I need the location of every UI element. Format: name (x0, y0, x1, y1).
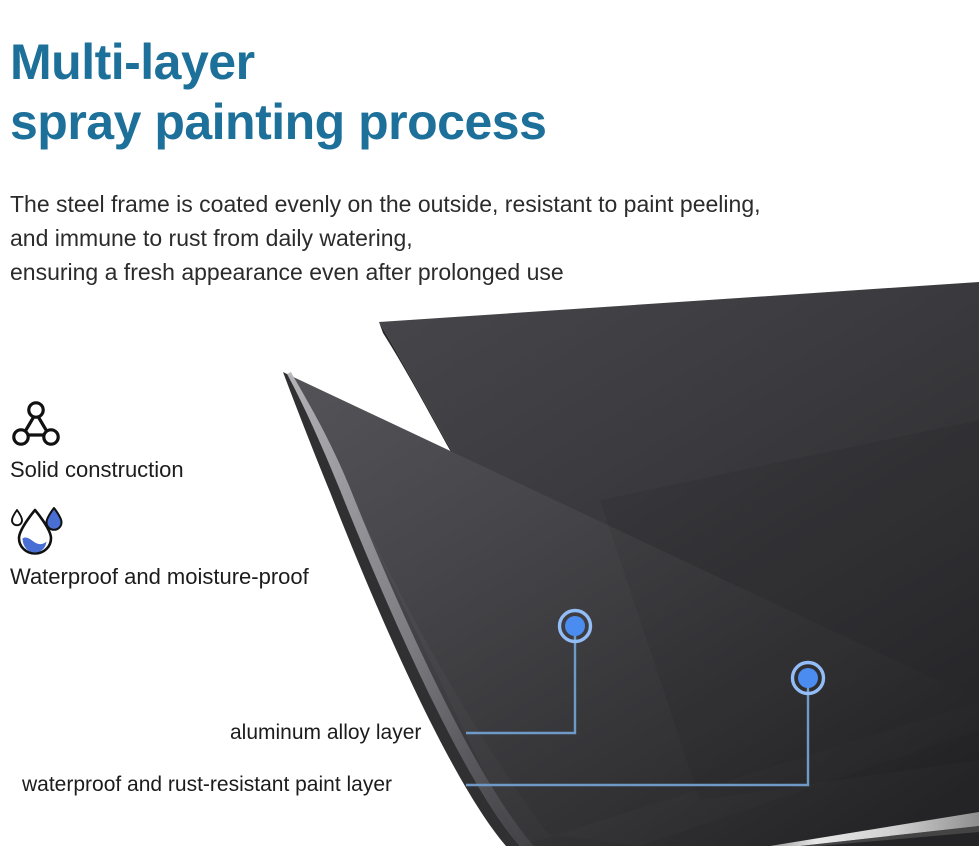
callout-overlay (0, 0, 979, 846)
callout-leader-aluminum (466, 632, 575, 733)
callout-label-aluminum-alloy-layer: aluminum alloy layer (230, 720, 421, 746)
product-feature-page: Multi-layer spray painting process The s… (0, 0, 979, 846)
callout-leader-paint (466, 684, 808, 785)
callout-label-paint-layer: waterproof and rust-resistant paint laye… (22, 772, 392, 798)
